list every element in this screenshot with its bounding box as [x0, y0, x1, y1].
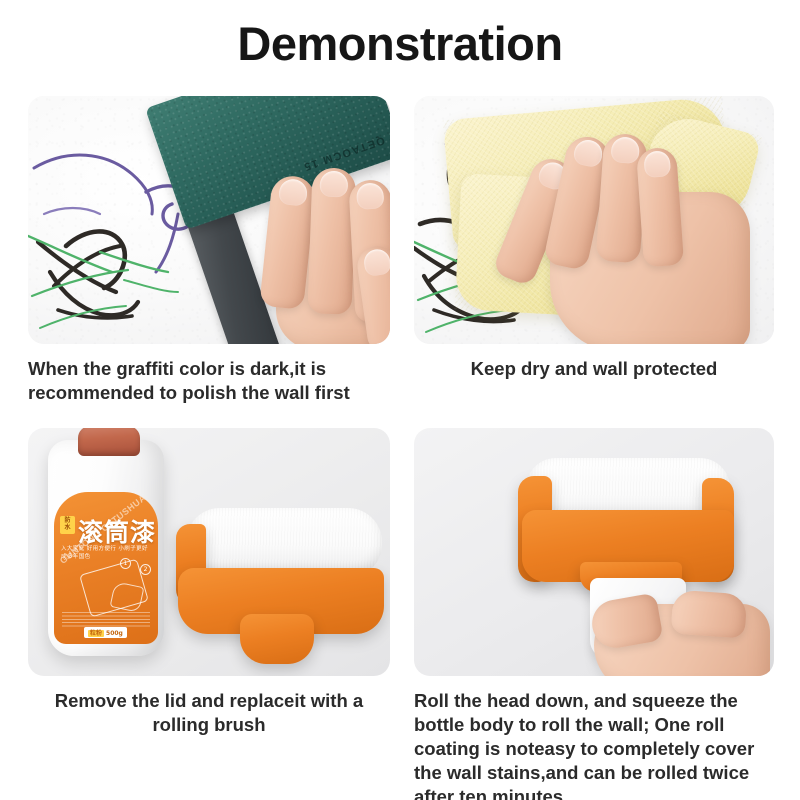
caption-replace-lid: Remove the lid and replaceit with a roll… [28, 689, 390, 737]
fingernail [356, 182, 384, 209]
photo-roll-wall [414, 428, 774, 676]
demo-step-roll-wall: Roll the head down, and squeeze the bott… [414, 428, 774, 800]
label-step-two-icon: 2 [140, 564, 151, 575]
finger-index [671, 589, 748, 638]
label-weight-value: 500g [106, 630, 123, 637]
finger-middle [307, 167, 356, 314]
paint-bottle: 防水 滚筒漆 入大家庭 好用方便行 小刷子更好 成多年国色 GUNTONG QI… [48, 440, 164, 656]
demo-step-polish-wall: QETAOCM 15 [28, 96, 390, 405]
bottle-label: 防水 滚筒漆 入大家庭 好用方便行 小刷子更好 成多年国色 GUNTONG QI… [54, 492, 158, 644]
roller-neck [240, 614, 314, 664]
page-title: Demonstration [0, 16, 800, 71]
caption-roll-wall: Roll the head down, and squeeze the bott… [414, 689, 774, 800]
fingernail [572, 137, 605, 168]
caption-polish-wall: When the graffiti color is dark,it is re… [28, 357, 390, 405]
finger-pinky [636, 147, 684, 268]
fingernail [278, 178, 309, 207]
label-weight-cn: 粒粉 [88, 630, 104, 637]
fingernail [610, 136, 640, 164]
demo-step-replace-lid: 防水 滚筒漆 入大家庭 好用方便行 小刷子更好 成多年国色 GUNTONG QI… [28, 428, 390, 737]
label-weight: 粒粉500g [84, 627, 127, 638]
fingernail [363, 248, 390, 277]
label-badge: 防水 [60, 516, 75, 534]
photo-keep-dry [414, 96, 774, 344]
demonstration-page: Demonstration [0, 0, 800, 800]
caption-keep-dry: Keep dry and wall protected [414, 357, 774, 381]
bottle-lid [78, 428, 140, 456]
label-step-one-icon: 1 [120, 558, 131, 569]
photo-polish-wall: QETAOCM 15 [28, 96, 390, 344]
fingernail [643, 150, 670, 178]
photo-replace-lid: 防水 滚筒漆 入大家庭 好用方便行 小刷子更好 成多年国色 GUNTONG QI… [28, 428, 390, 676]
label-fine-print [62, 612, 150, 628]
demo-step-keep-dry: Keep dry and wall protected [414, 96, 774, 381]
fingernail [319, 171, 348, 198]
